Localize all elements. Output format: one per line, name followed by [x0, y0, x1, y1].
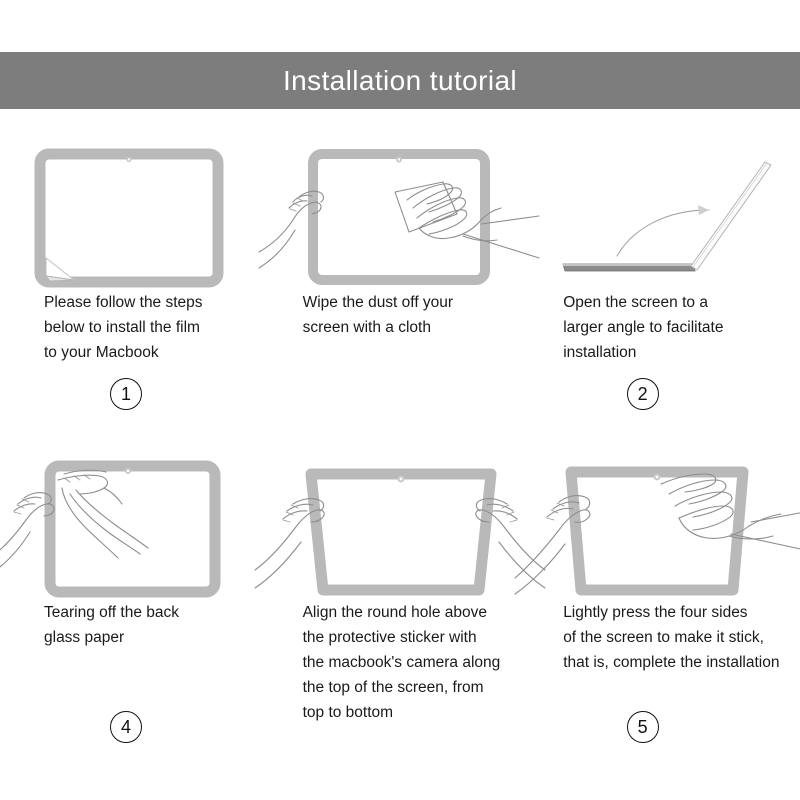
step-1-illustration [0, 140, 267, 290]
step-3-illustration [533, 140, 800, 290]
step-6-caption: Lightly press the four sides of the scre… [533, 600, 800, 675]
tutorial-step-2: Wipe the dust off your screen with a clo… [267, 140, 534, 450]
step-5-illustration [267, 450, 534, 600]
steps-row-top: Please follow the steps below to install… [0, 140, 800, 450]
tutorial-step-1: Please follow the steps below to install… [0, 140, 267, 450]
step-2-caption-line-2: screen with a cloth [303, 315, 524, 340]
step-5-caption-line-4: the top of the screen, from [303, 675, 524, 700]
step-1-caption-line-2: below to install the film [44, 315, 257, 340]
step-4-illustration [0, 450, 267, 600]
step-5-caption-line-5: top to bottom [303, 700, 524, 725]
step-4-caption-line-1: Tearing off the back [44, 600, 257, 625]
step-4-number: 4 [121, 718, 131, 736]
step-5-caption: Align the round hole above the protectiv… [267, 600, 534, 725]
step-4-caption: Tearing off the back glass paper [0, 600, 267, 650]
step-3-caption-line-3: installation [563, 340, 790, 365]
tutorial-step-3: Open the screen to a larger angle to fac… [533, 140, 800, 450]
step-2-illustration [267, 140, 534, 290]
steps-row-bottom: Tearing off the back glass paper 4 [0, 450, 800, 770]
step-3-caption: Open the screen to a larger angle to fac… [533, 290, 800, 365]
step-1-caption-line-1: Please follow the steps [44, 290, 257, 315]
header-bar: Installation tutorial [0, 52, 800, 109]
step-5-caption-line-1: Align the round hole above [303, 600, 524, 625]
step-6-illustration [533, 450, 800, 600]
step-6-caption-line-3: that is, complete the installation [563, 650, 790, 675]
step-3-caption-line-1: Open the screen to a [563, 290, 790, 315]
step-1-caption-line-3: to your Macbook [44, 340, 257, 365]
step-5-caption-line-2: the protective sticker with [303, 625, 524, 650]
step-4-number-badge: 4 [110, 711, 142, 743]
step-1-caption: Please follow the steps below to install… [0, 290, 267, 365]
tutorial-step-6: Lightly press the four sides of the scre… [533, 450, 800, 770]
step-6-caption-line-1: Lightly press the four sides [563, 600, 790, 625]
tutorial-steps-grid: Please follow the steps below to install… [0, 140, 800, 770]
step-5-caption-line-3: the macbook's camera along [303, 650, 524, 675]
step-3-caption-line-2: larger angle to facilitate [563, 315, 790, 340]
step-2-caption: Wipe the dust off your screen with a clo… [267, 290, 534, 340]
step-1-number: 1 [121, 385, 131, 403]
step-2-caption-line-1: Wipe the dust off your [303, 290, 524, 315]
tutorial-step-5: Align the round hole above the protectiv… [267, 450, 534, 770]
step-6-caption-line-2: of the screen to make it stick, [563, 625, 790, 650]
page-title: Installation tutorial [283, 67, 517, 95]
step-1-number-badge: 1 [110, 378, 142, 410]
step-4-caption-line-2: glass paper [44, 625, 257, 650]
tutorial-step-4: Tearing off the back glass paper 4 [0, 450, 267, 770]
